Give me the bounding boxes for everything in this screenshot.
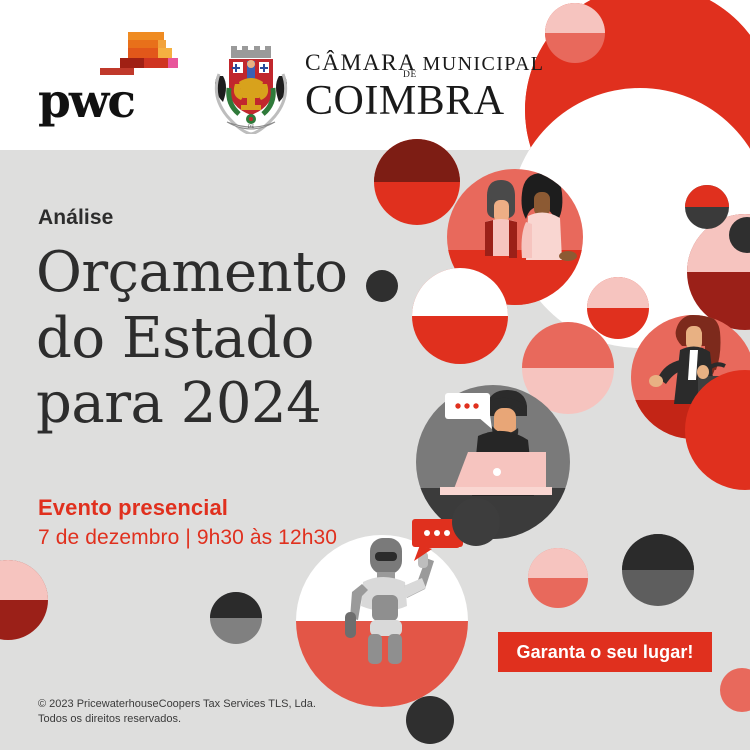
- page-title: Orçamento do Estado para 2024: [36, 240, 436, 437]
- headline-line-1: Orçamento: [36, 240, 436, 306]
- headline-line-3: para 2024: [36, 371, 436, 437]
- event-type-label: Evento presencial: [38, 495, 228, 521]
- event-datetime-label: 7 de dezembro | 9h30 às 12h30: [38, 526, 337, 550]
- municipality-line-2: COIMBRA: [305, 80, 520, 122]
- copyright-footer: © 2023 PricewaterhouseCoopers Tax Servic…: [38, 697, 316, 727]
- municipality-de: DE: [403, 70, 417, 80]
- pwc-logo-mark: [100, 30, 190, 78]
- coimbra-coat-of-arms-icon: DE: [205, 42, 297, 134]
- pwc-wordmark: pwc: [38, 78, 134, 125]
- kicker-label: Análise: [38, 206, 113, 230]
- pwc-logo: pwc: [38, 30, 188, 130]
- municipality-wordmark: CÂMARA MUNICIPAL DECOIMBRA: [305, 52, 520, 122]
- headline-line-2: do Estado: [36, 306, 436, 372]
- footer-line-2: Todos os direitos reservados.: [38, 712, 316, 727]
- register-button-label: Garanta o seu lugar!: [516, 642, 693, 663]
- poster-canvas: pwc: [0, 0, 750, 750]
- footer-line-1: © 2023 PricewaterhouseCoopers Tax Servic…: [38, 697, 316, 712]
- logo-row: pwc: [0, 0, 750, 150]
- register-button[interactable]: Garanta o seu lugar!: [498, 632, 712, 672]
- svg-text:DE: DE: [248, 125, 255, 130]
